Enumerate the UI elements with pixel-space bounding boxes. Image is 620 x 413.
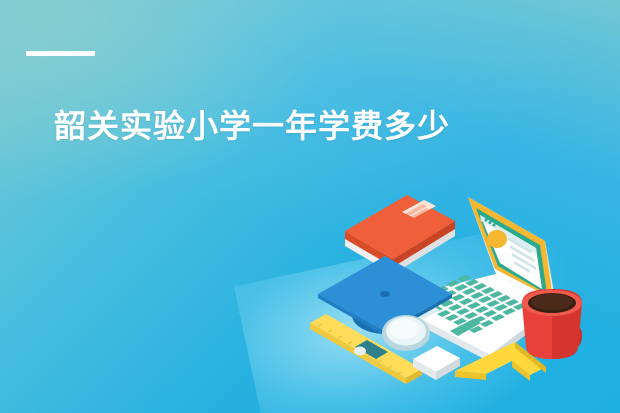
page-title: 韶关实验小学一年学费多少 bbox=[54, 104, 450, 148]
isometric-study-desk-illustration bbox=[300, 175, 620, 413]
title-accent-rule bbox=[26, 51, 95, 56]
books-stack bbox=[345, 195, 455, 274]
article-cover-banner: 韶关实验小学一年学费多少 bbox=[0, 0, 620, 413]
coffee-mug bbox=[522, 289, 582, 359]
